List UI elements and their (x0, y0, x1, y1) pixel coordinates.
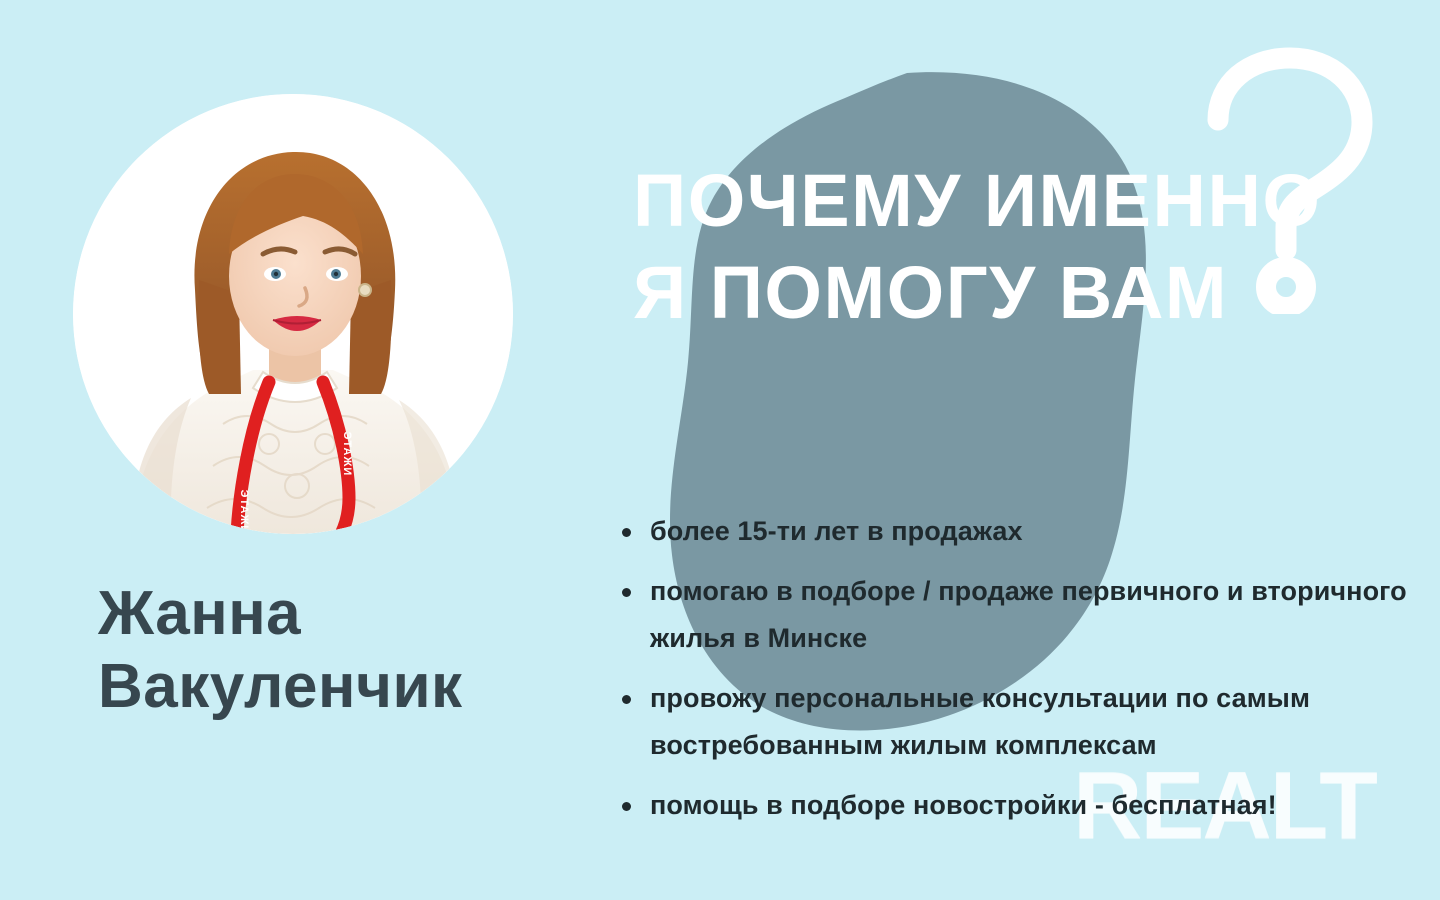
list-item: помогаю в подборе / продаже первичного и… (618, 568, 1428, 661)
agent-portrait-illustration: ЭТАЖИ ЭТАЖИ (73, 94, 513, 534)
agent-first-name: Жанна (98, 578, 568, 651)
promo-card: ПОЧЕМУ ИМЕННО Я ПОМОГУ ВАМ (0, 0, 1440, 900)
headline-line-2: Я ПОМОГУ ВАМ (633, 244, 1321, 342)
agent-name: Жанна Вакуленчик (98, 578, 568, 723)
page-title: ПОЧЕМУ ИМЕННО Я ПОМОГУ ВАМ (633, 152, 1321, 341)
agent-last-name: Вакуленчик (98, 651, 568, 724)
list-item: помощь в подборе новостройки - бесплатна… (618, 782, 1428, 828)
headline-line-1: ПОЧЕМУ ИМЕННО (633, 152, 1321, 250)
list-item: провожу персональные консультации по сам… (618, 675, 1428, 768)
agent-photo: ЭТАЖИ ЭТАЖИ (73, 94, 513, 534)
svg-text:ЭТАЖИ: ЭТАЖИ (341, 432, 353, 477)
svg-text:ЭТАЖИ: ЭТАЖИ (238, 490, 250, 534)
list-item: более 15-ти лет в продажах (618, 508, 1428, 554)
benefits-list: более 15-ти лет в продажах помогаю в под… (618, 508, 1428, 829)
